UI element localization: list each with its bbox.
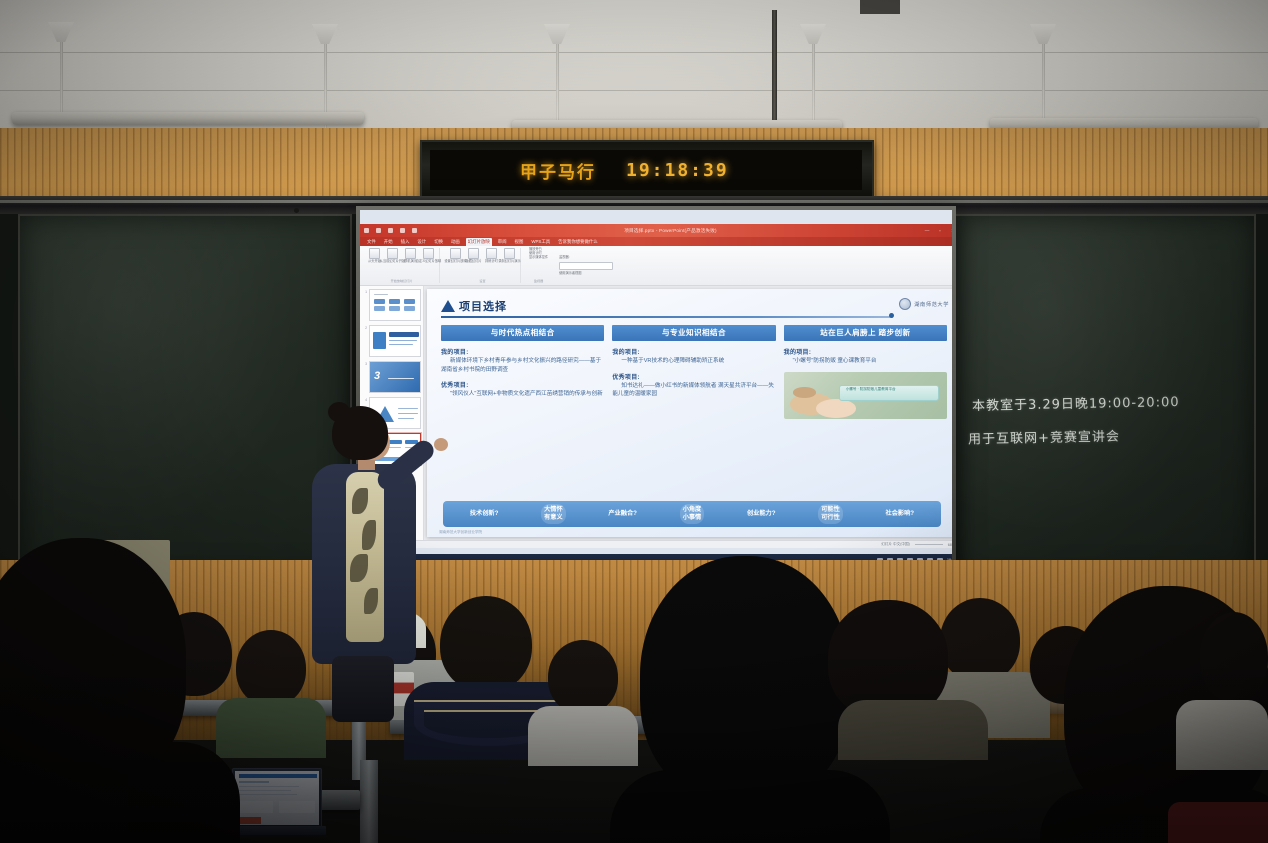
column-block: 我的项目: "小螺号"防拐防贩 童心课教育平台 (784, 347, 947, 366)
bubble-strip: 技术创新? 大情怀 有意义 产业融合? 小角度 小事情 创业能力? 可能性 可行… (443, 501, 941, 527)
ceiling-light-fixture (12, 112, 364, 125)
tab-review[interactable]: 审阅 (496, 238, 509, 246)
monitor-label: 监视器: (559, 256, 569, 259)
tab-view[interactable]: 视图 (513, 238, 526, 246)
ceiling (0, 0, 1268, 128)
student-laptop[interactable] (232, 768, 322, 828)
pointer-icon[interactable] (412, 228, 417, 233)
tab-design[interactable]: 设计 (415, 238, 428, 246)
projection-screen: 项目选择.pptx - PowerPoint(产品激活失败) — ▫ ✕ 文件 … (356, 206, 956, 572)
presenter-view-label[interactable]: 使用演示者视图 (559, 272, 581, 275)
tab-wps-tools[interactable]: WPS工具 (529, 238, 552, 246)
logo-text: 湖南师范大学 (914, 301, 949, 308)
triangle-bullet-icon (441, 300, 455, 312)
slide-column-2: 与专业知识相结合 我的项目: 一种基于VR技术的心理障碍辅助矫正系统 优秀项目:… (612, 325, 775, 495)
tab-file[interactable]: 文件 (365, 238, 378, 246)
blackboard-left (18, 214, 352, 578)
camera-dot-icon (294, 208, 299, 213)
list-item[interactable]: 2 (362, 325, 421, 357)
classroom-lecture-photo: 甲子马行 19:18:39 本教室于3.29日晚19:00-20:00 用于互联… (0, 0, 1268, 843)
tab-slideshow[interactable]: 幻灯片放映 (466, 238, 492, 246)
play-current-icon (387, 248, 398, 259)
chalk-note-line1: 本教室于3.29日晚19:00-20:00 (972, 390, 1180, 419)
undo-icon[interactable] (376, 228, 381, 233)
present-online-icon (405, 248, 416, 259)
slide-stage: 项目选择 湖南师范大学 与时代热点相结合 (424, 286, 952, 540)
bubble-5: 可能性 可行性 (818, 504, 843, 524)
save-icon[interactable] (364, 228, 369, 233)
foreground-student-body (0, 742, 240, 843)
current-slide: 项目选择 湖南师范大学 与时代热点相结合 (427, 289, 952, 537)
tab-home[interactable]: 开始 (382, 238, 395, 246)
powerpoint-window: 项目选择.pptx - PowerPoint(产品激活失败) — ▫ ✕ 文件 … (360, 224, 952, 548)
redo-icon[interactable] (388, 228, 393, 233)
student-head (236, 630, 306, 706)
tab-transitions[interactable]: 切换 (432, 238, 445, 246)
tab-animations[interactable]: 动画 (449, 238, 462, 246)
student-head (1200, 612, 1268, 702)
powerpoint-title-bar: 项目选择.pptx - PowerPoint(产品激活失败) — ▫ ✕ (360, 224, 952, 237)
foreground-student-body (610, 770, 890, 843)
list-item[interactable]: 1 (362, 289, 421, 321)
column-header: 站在巨人肩膀上 踏步创新 (784, 325, 947, 341)
presenter-hair-bun (328, 402, 350, 422)
bubble-3: 小角度 小事情 (680, 504, 705, 524)
tell-me-box[interactable]: 告诉我你想要做什么 (556, 238, 600, 246)
blackboard-right: 本教室于3.29日晚19:00-20:00 用于互联网+竞赛宣讲会 (952, 214, 1256, 580)
record-slideshow-button[interactable]: 录制幻灯片演示 (502, 248, 517, 263)
zoom-slider[interactable] (915, 544, 943, 545)
presenter-dress (346, 472, 384, 642)
status-bar: 幻灯片 中文(中国) 68% (360, 540, 952, 548)
editor-body: 1 2 (360, 286, 952, 540)
custom-show-button[interactable]: 自定义幻灯片放映 (421, 248, 436, 263)
column-block: 我的项目: 一种基于VR技术的心理障碍辅助矫正系统 (612, 347, 775, 366)
column-block: 优秀项目: "领风仪人"互联网+非物质文化遗产西江苗绣营销的传承与创新 (441, 380, 604, 399)
status-view-label: 幻灯片 中文(中国) (881, 542, 910, 547)
slide-footer: 湖南师范大学创新创业学院 (439, 530, 482, 535)
thumbnail-slide-3[interactable]: 3 (369, 361, 421, 393)
student-head (548, 640, 618, 714)
ribbon-group-label: 设置 (479, 278, 485, 283)
student-bag (1168, 802, 1268, 843)
print-icon[interactable] (400, 228, 405, 233)
student-shoulder (838, 700, 988, 760)
slide-title: 项目选择 (459, 298, 507, 314)
ribbon: 从头开始 从当前幻灯片开始 联机演示 (360, 246, 952, 286)
minimize-button[interactable]: — (924, 228, 930, 233)
slide-columns: 与时代热点相结合 我的项目: 新媒体环境下乡村青年参与乡村文化振兴的路径研究——… (441, 325, 947, 495)
monitor-select[interactable] (559, 262, 613, 270)
zoom-level[interactable]: 68% (948, 543, 952, 547)
title-rule (441, 316, 893, 318)
led-sign: 甲子马行 19:18:39 (420, 140, 874, 202)
student-head (940, 598, 1020, 682)
ribbon-tab-strip: 文件 开始 插入 设计 切换 动画 幻灯片放映 审阅 视图 WPS工具 告诉我你… (360, 237, 952, 246)
window-title: 项目选择.pptx - PowerPoint(产品激活失败) (424, 228, 917, 234)
setup-show-icon (450, 248, 461, 259)
slide-column-1: 与时代热点相结合 我的项目: 新媒体环境下乡村青年参与乡村文化振兴的路径研究——… (441, 325, 604, 495)
desk-post (360, 760, 378, 843)
led-sign-clock: 19:18:39 (626, 160, 729, 181)
column-block: 优秀项目: 知书达礼——做小红书的新媒体领航者 满天星共济平台——失能儿童的温暖… (612, 372, 775, 399)
column-header: 与时代热点相结合 (441, 325, 604, 341)
ribbon-group-label: 监视器 (534, 278, 543, 283)
rule-end-dot (889, 313, 894, 318)
list-item[interactable]: 3 3 (362, 361, 421, 393)
foreground-student-head (640, 556, 850, 804)
logo-mark-icon (899, 298, 911, 310)
rehearse-timings-button[interactable]: 排练计时 (484, 248, 499, 263)
bubble-0: 技术创新? (467, 508, 502, 520)
presenter-hand (434, 438, 448, 451)
ribbon-group-monitors: 播放旁白 使用计时 显示媒体控件 监视器 (526, 248, 551, 283)
bubble-4: 创业能力? (744, 508, 779, 520)
hide-slide-icon (468, 248, 479, 259)
close-button[interactable]: ✕ (950, 228, 952, 233)
play-from-start-icon (369, 248, 380, 259)
bubble-1: 大情怀 有意义 (541, 504, 566, 524)
student-torso (528, 706, 638, 766)
slide-column-3: 站在巨人肩膀上 踏步创新 我的项目: "小螺号"防拐防贩 童心课教育平台 (784, 325, 947, 495)
student-head (440, 596, 532, 692)
hide-slide-button[interactable]: 隐藏幻灯片 (466, 248, 481, 263)
led-sign-text: 甲子马行 (520, 158, 596, 183)
ribbon-group-label: 开始放映幻灯片 (391, 278, 413, 283)
setup-show-button[interactable]: 设置幻灯片放映 (448, 248, 463, 263)
restore-button[interactable]: ▫ (937, 228, 943, 233)
tab-insert[interactable]: 插入 (399, 238, 412, 246)
bubble-6: 社会影响? (883, 508, 918, 520)
custom-show-icon (423, 248, 434, 259)
presenter-lower-body (332, 656, 394, 722)
slide-illustration: 小螺号 · 防拐防贩儿童教育平台 (784, 372, 947, 419)
chalk-note-line2: 用于互联网+竞赛宣讲会 (968, 425, 1120, 453)
illustration-caption: 小螺号 · 防拐防贩儿童教育平台 (846, 387, 896, 392)
bubble-2: 产业融合? (605, 508, 640, 520)
column-block: 我的项目: 新媒体环境下乡村青年参与乡村文化振兴的路径研究——基于湖南省乡村书院… (441, 347, 604, 374)
thumbnail-slide-1[interactable] (369, 289, 421, 321)
from-current-slide-button[interactable]: 从当前幻灯片开始 (385, 248, 400, 263)
laptop-base (226, 826, 326, 835)
university-logo: 湖南师范大学 (899, 298, 949, 310)
presenter (306, 406, 428, 722)
monitor-settings: 监视器: 使用演示者视图 (556, 248, 616, 283)
ribbon-group-setup: 设置幻灯片放映 隐藏幻灯片 排练计时 (445, 248, 521, 283)
record-icon (504, 248, 515, 259)
checkbox-show-media-controls[interactable]: 显示媒体控件 (529, 256, 548, 259)
ribbon-group-start-show: 从头开始 从当前幻灯片开始 联机演示 (364, 248, 440, 283)
projector-mount (860, 0, 900, 14)
thumbnail-slide-2[interactable] (369, 325, 421, 357)
student-torso (1176, 700, 1268, 770)
column-header: 与专业知识相结合 (612, 325, 775, 341)
rehearse-icon (486, 248, 497, 259)
